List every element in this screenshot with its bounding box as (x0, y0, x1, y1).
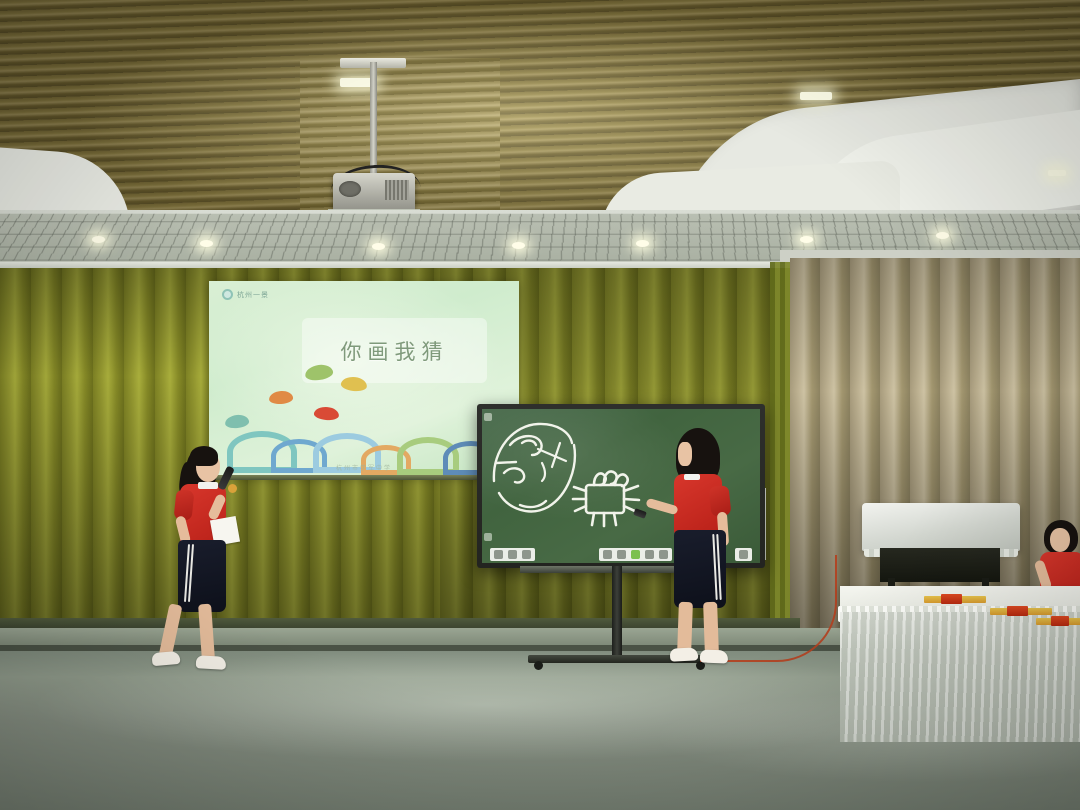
certificate-red-band-1 (941, 594, 962, 604)
downlight-7 (936, 232, 949, 239)
host-shoe-left (151, 651, 180, 666)
host-shoe-right (196, 655, 227, 670)
drawing-spark-mark (538, 443, 566, 481)
toolbar-group-left[interactable] (490, 548, 535, 561)
student-host-with-microphone (150, 440, 270, 700)
slide-title: 你画我猜 (341, 336, 449, 366)
pen-tool-icon[interactable] (494, 550, 503, 559)
slide-footer-text: 杭州市学军中学 (336, 463, 392, 472)
drawer-collar (684, 474, 700, 480)
judge-face (1050, 528, 1070, 552)
select-tool-icon[interactable] (631, 550, 640, 559)
slide-logo: 杭州一景 (222, 289, 269, 300)
host-leg-right (198, 604, 215, 661)
ceiling-spotlight-right (800, 92, 832, 100)
drawer-shoe-right (700, 650, 728, 664)
downlight-6 (800, 236, 813, 243)
ceiling-spotlight-far-right (1048, 170, 1066, 176)
redo-tool-icon[interactable] (617, 550, 626, 559)
host-collar (198, 482, 218, 489)
certificate-red-band-3 (1051, 616, 1069, 626)
ceiling-projector (333, 173, 415, 213)
auditorium-photo-scene: 杭州一景 你画我猜 杭州市学军中学 0 0 (0, 0, 1080, 810)
microphone-head (228, 484, 237, 493)
piano-body (880, 548, 1000, 582)
downlight-2 (200, 240, 213, 247)
downlight-1 (92, 236, 105, 243)
drawing-face-sketch (494, 424, 575, 511)
covered-upright-piano (862, 503, 1020, 551)
whiteboard-bottom-left-button[interactable] (484, 533, 492, 541)
host-leg-left (159, 603, 183, 659)
drawer-leg-right (703, 602, 719, 654)
host-hair-front (190, 446, 218, 466)
slide-logo-icon (222, 289, 233, 300)
shape-tool-icon[interactable] (522, 550, 531, 559)
undo-tool-icon[interactable] (603, 550, 612, 559)
certificate-red-band-2 (1007, 606, 1028, 616)
projector-pole (370, 62, 377, 177)
downlight-3 (372, 243, 385, 250)
certificate-stack-1 (924, 596, 986, 603)
drawer-leg-left (677, 602, 693, 654)
whiteboard-caster-left (534, 661, 543, 670)
drawing-creature-sketch (573, 471, 639, 526)
host-sleeve-left (173, 489, 194, 521)
whiteboard-top-left-button[interactable] (484, 413, 492, 421)
table-skirt (840, 612, 1080, 742)
certificate-stack-2 (990, 608, 1052, 615)
eraser-tool-icon[interactable] (508, 550, 517, 559)
drawer-face (678, 442, 692, 466)
certificate-stack-3 (1036, 618, 1080, 625)
downlight-5 (636, 240, 649, 247)
downlight-4 (512, 242, 525, 249)
slide-logo-text: 杭州一景 (237, 290, 269, 300)
whiteboard-stand-column (612, 566, 622, 658)
student-drawer-at-whiteboard (648, 424, 758, 689)
drawer-shoe-left (670, 647, 699, 661)
